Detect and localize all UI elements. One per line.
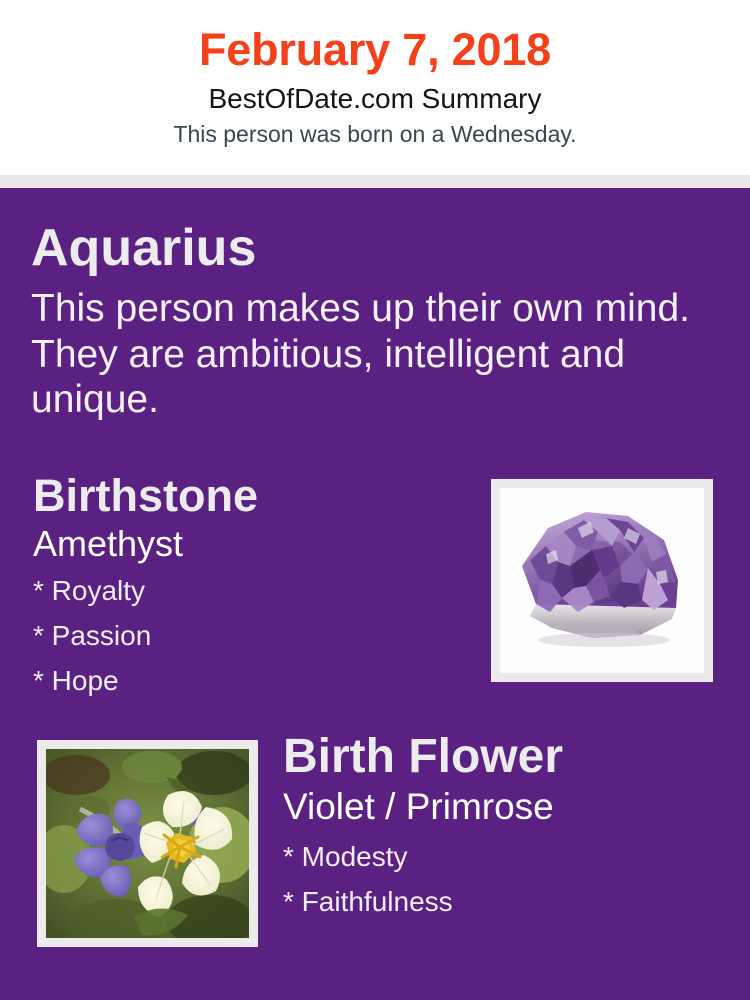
amethyst-photo [500,488,704,673]
header-divider [0,175,750,188]
summary-card: February 7, 2018 BestOfDate.com Summary … [0,0,750,1000]
zodiac-sign-title: Aquarius [31,222,691,274]
list-item: * Royalty [33,577,463,622]
birth-flower-image-frame [37,740,258,947]
birth-flower-traits-list: * Modesty * Faithfulness [283,827,733,933]
birth-weekday-note: This person was born on a Wednesday. [0,114,750,147]
page-title-date: February 7, 2018 [0,0,750,75]
list-item: * Passion [33,622,463,667]
amethyst-crystal-icon [500,488,704,673]
violet-and-primrose-flower-icon [46,749,249,938]
birthstone-image-frame [491,479,713,682]
list-item: * Modesty [283,843,733,888]
zodiac-description: This person makes up their own mind. The… [31,274,691,423]
birth-flower-title: Birth Flower [283,733,733,781]
violet-primrose-photo [46,749,249,938]
content-body: Aquarius This person makes up their own … [0,188,750,1000]
zodiac-section: Aquarius This person makes up their own … [31,222,691,423]
birthstone-title: Birthstone [33,473,463,518]
page-header: February 7, 2018 BestOfDate.com Summary … [0,0,750,175]
birthstone-name: Amethyst [33,518,463,563]
list-item: * Hope [33,667,463,712]
birthstone-traits-list: * Royalty * Passion * Hope [33,563,463,712]
birth-flower-name: Violet / Primrose [283,781,733,827]
birth-flower-section: Birth Flower Violet / Primrose * Modesty… [283,733,733,933]
list-item: * Faithfulness [283,888,733,933]
birthstone-section: Birthstone Amethyst * Royalty * Passion … [33,473,463,712]
site-name-subtitle: BestOfDate.com Summary [0,75,750,115]
